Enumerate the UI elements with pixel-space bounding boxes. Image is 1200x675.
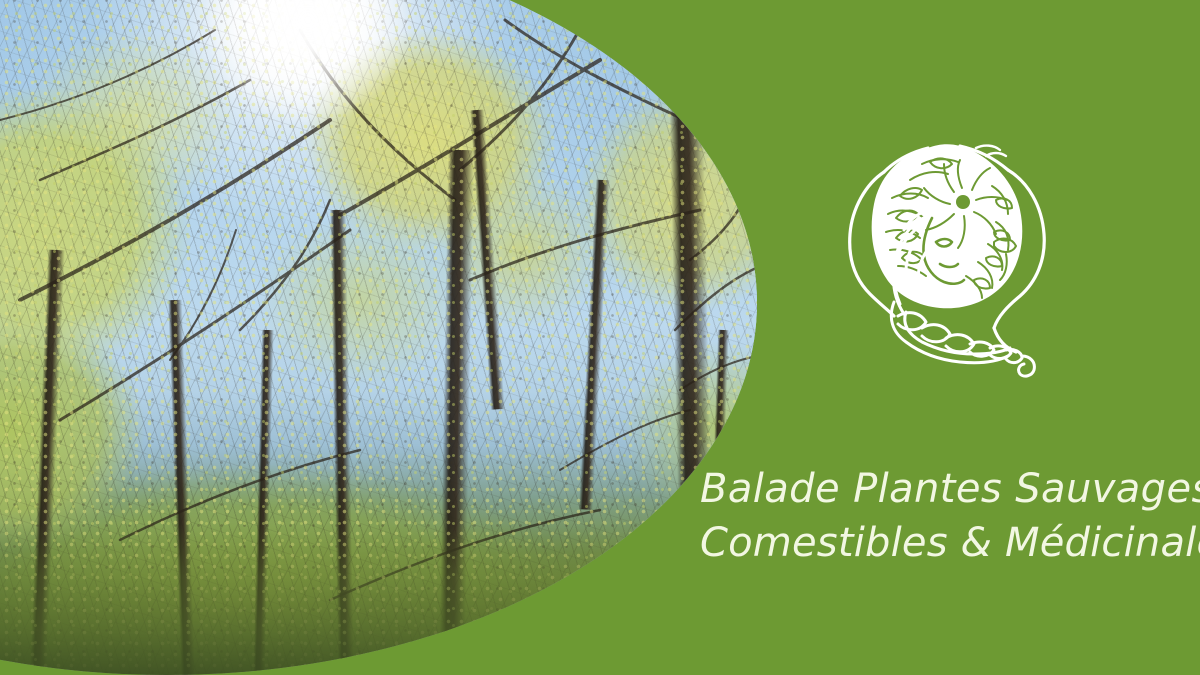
woman-head-with-plants-logo	[836, 126, 1058, 378]
title-line-2: Comestibles & Médicinales	[700, 516, 1190, 570]
braid	[891, 302, 1034, 376]
poster-title: Balade Plantes Sauvages Comestibles & Mé…	[700, 462, 1190, 570]
poster-canvas: Balade Plantes Sauvages Comestibles & Mé…	[0, 0, 1200, 675]
title-line-1: Balade Plantes Sauvages	[700, 462, 1190, 516]
